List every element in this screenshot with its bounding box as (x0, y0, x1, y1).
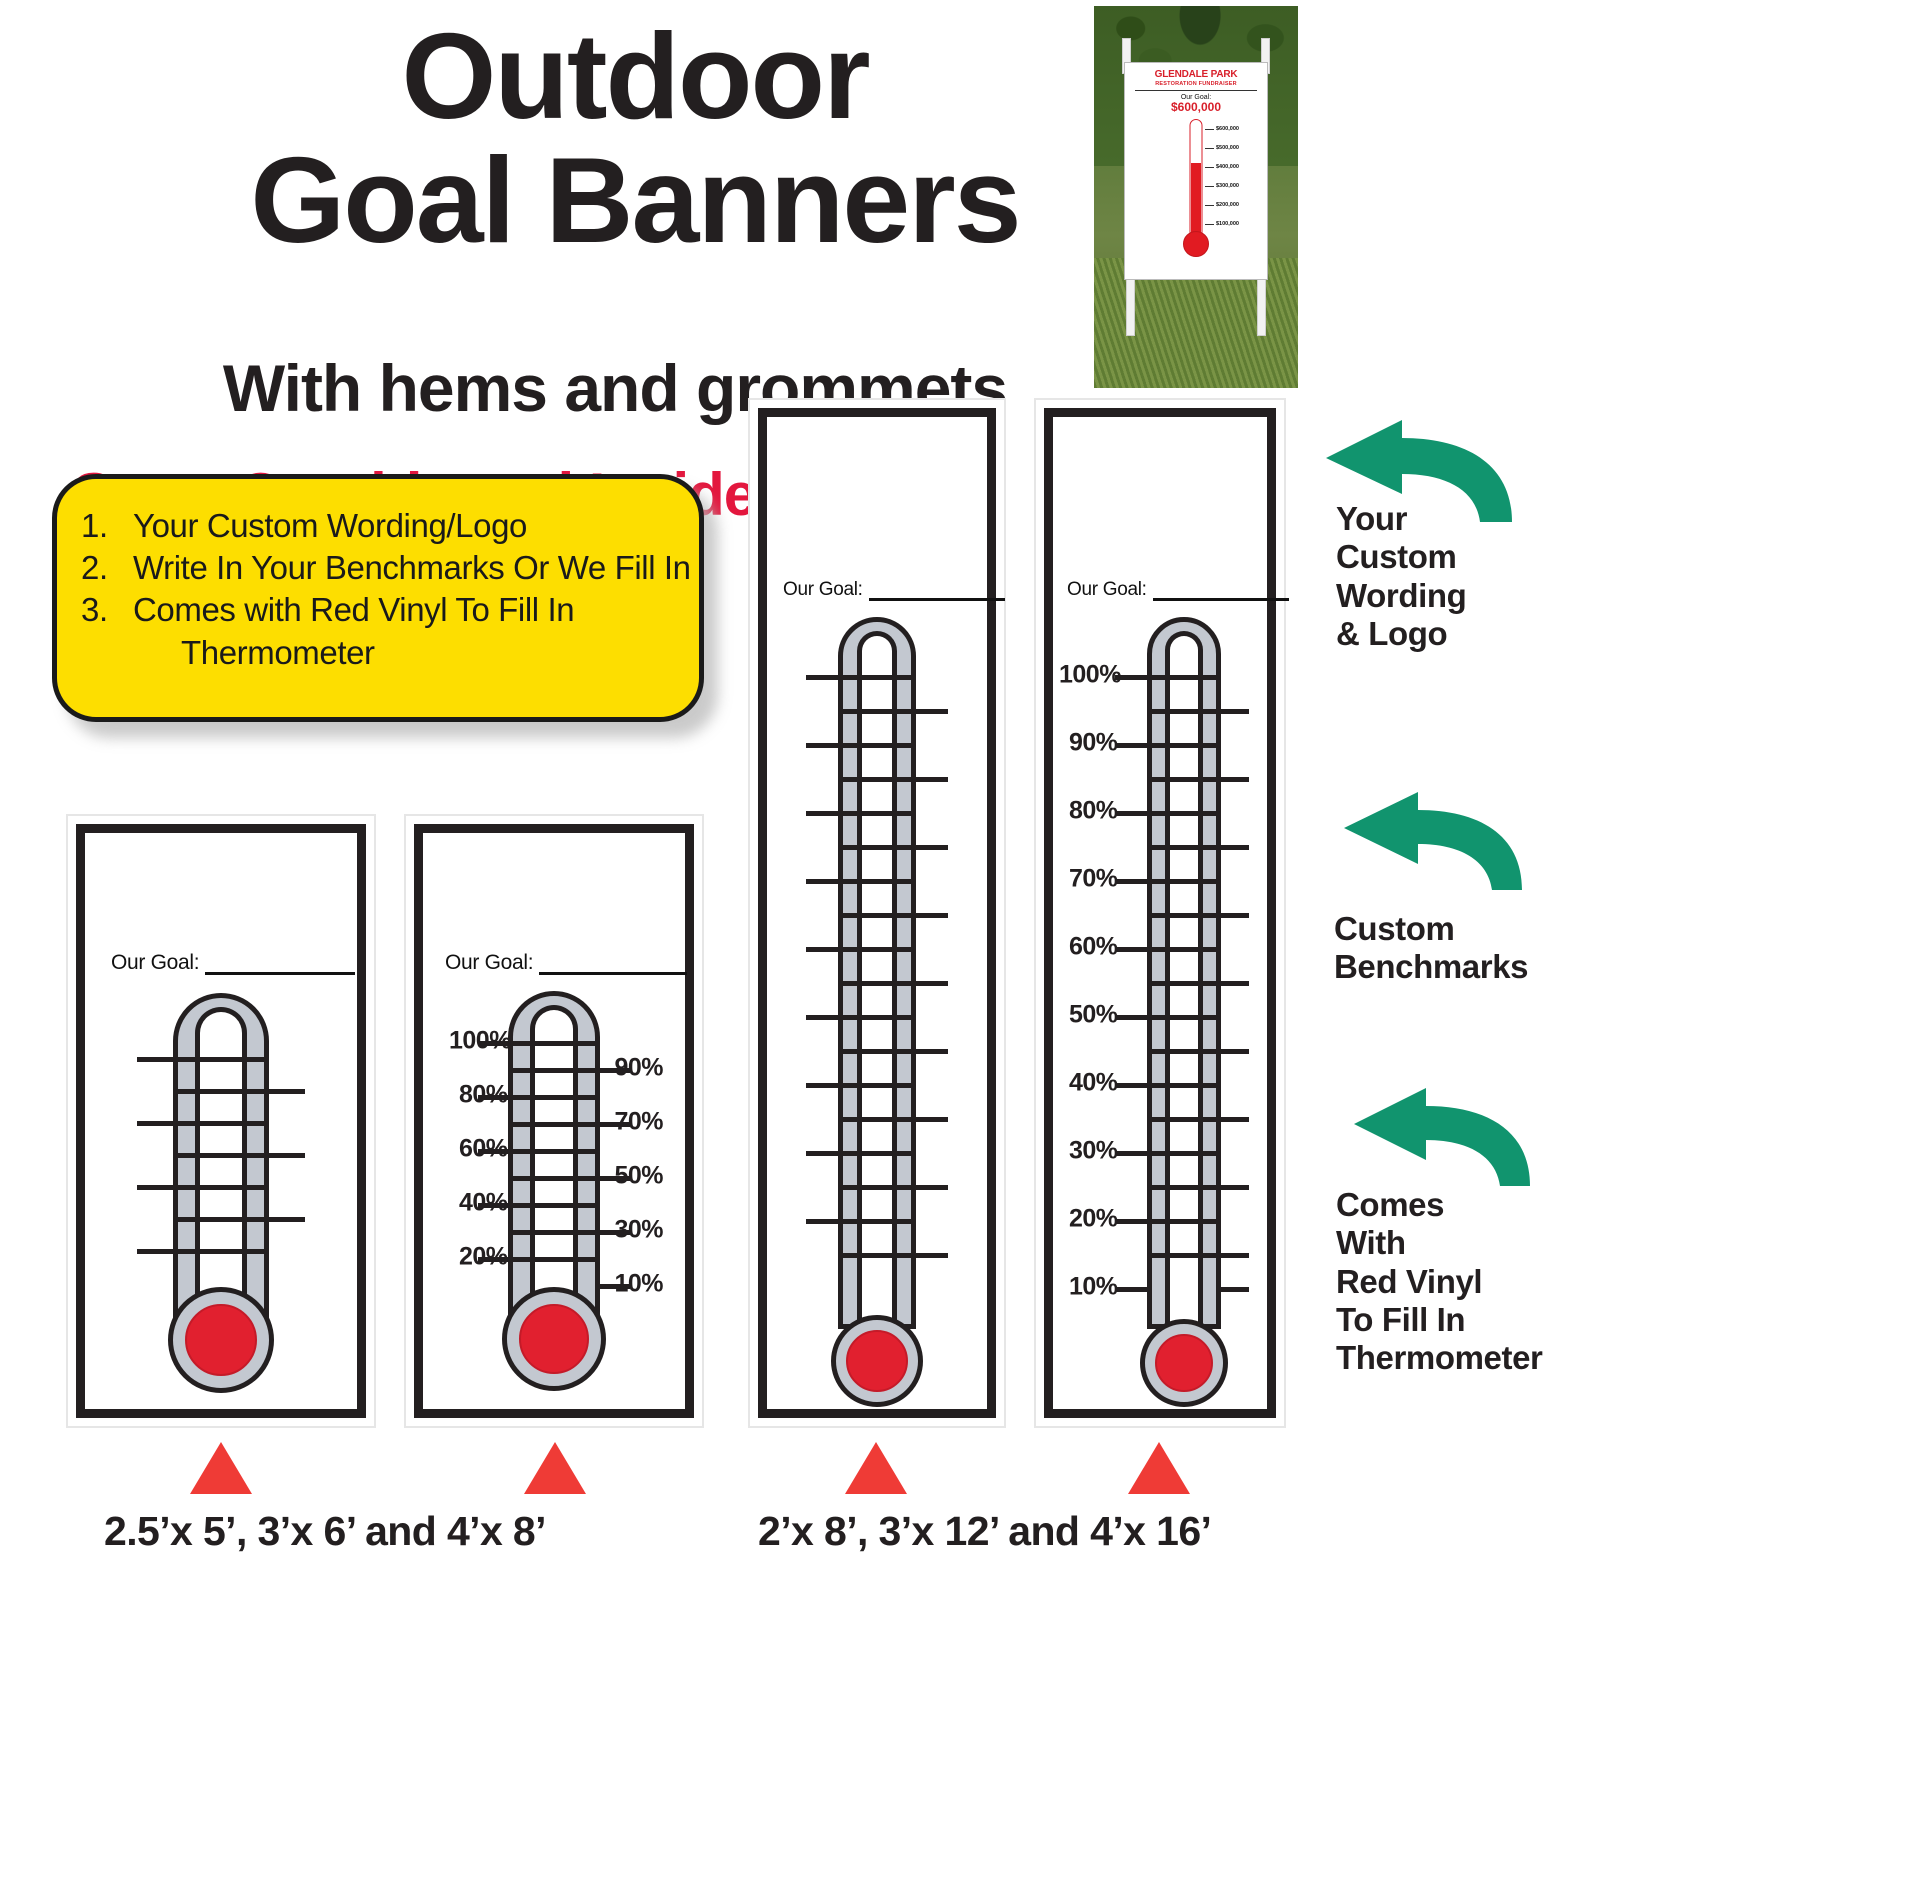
thermometer-tick-left (1115, 1151, 1147, 1156)
goal-label: Our Goal: (1067, 579, 1147, 601)
thermometer-segment (173, 1217, 269, 1222)
goal-write-in-line[interactable] (539, 957, 687, 975)
thermometer-segment (838, 1185, 916, 1190)
thermometer-tick-left (806, 1219, 838, 1224)
yard-sign-photo: GLENDALE PARK RESTORATION FUNDRAISER Our… (1094, 6, 1298, 388)
thermometer-segment (838, 879, 916, 884)
thermometer-segment (1147, 1049, 1221, 1054)
banner-panel-tall-blank[interactable]: Our Goal: (748, 398, 1006, 1428)
scale-label-left: 20% (1069, 1205, 1118, 1234)
thermometer-segment (508, 1122, 600, 1127)
mini-tick (1205, 224, 1214, 225)
thermometer-segment (1147, 743, 1221, 748)
thermometer-segment (508, 1041, 600, 1046)
thermometer-tick-left (806, 675, 838, 680)
scale-label-right: 30% (614, 1216, 663, 1245)
photo-sign-frame: GLENDALE PARK RESTORATION FUNDRAISER Our… (1110, 38, 1282, 336)
thermometer-tick-right (916, 981, 948, 986)
thermometer-segment (508, 1203, 600, 1208)
scale-label-left: 60% (1069, 933, 1118, 962)
scale-label-left: 30% (1069, 1137, 1118, 1166)
thermometer-segment (1147, 709, 1221, 714)
goal-row: Our Goal: (111, 951, 355, 975)
thermometer-tick-right (1221, 845, 1249, 850)
thermometer-segment (838, 777, 916, 782)
thermometer-segment (1147, 777, 1221, 782)
features-callout: 1. Your Custom Wording/Logo 2. Write In … (52, 474, 704, 722)
thermometer-segment (1147, 1117, 1221, 1122)
scale-label-left: 100% (449, 1027, 511, 1056)
thermometer-segment (838, 811, 916, 816)
list-item-label: Comes with Red Vinyl To Fill In (133, 589, 574, 631)
banner-panel-tall-labeled[interactable]: Our Goal: (1034, 398, 1286, 1428)
thermometer-segment (173, 1121, 269, 1126)
list-item: 3. Comes with Red Vinyl To Fill In (57, 589, 699, 631)
thermometer-segment (173, 1089, 269, 1094)
poster-root: Outdoor Goal Banners With hems and gromm… (0, 0, 1920, 1878)
mini-thermometer-fill (1191, 163, 1201, 237)
thermometer-segment (173, 1153, 269, 1158)
goal-write-in-line[interactable] (205, 957, 355, 975)
thermometer-tick-left (137, 1249, 177, 1254)
thermometer-tick-left (806, 743, 838, 748)
banner-inner-border: Our Goal: (1044, 408, 1276, 1418)
headline-line-1: Outdoor (0, 14, 1270, 138)
thermometer-tick-right (916, 1185, 948, 1190)
thermometer-tick-right (1221, 1287, 1249, 1292)
scale-label-left: 10% (1069, 1273, 1118, 1302)
thermometer-tick-right (1221, 913, 1249, 918)
thermometer-tick-left (806, 879, 838, 884)
thermometer-segment (838, 947, 916, 952)
scale-label-right: 90% (614, 1054, 663, 1083)
thermometer-segment (838, 1219, 916, 1224)
thermometer-tick-left (1115, 947, 1147, 952)
thermometer-segment (838, 743, 916, 748)
thermometer-tick-left (1115, 1219, 1147, 1224)
thermometer-graphic (767, 617, 987, 1407)
mini-thermometer-bulb (1183, 231, 1209, 257)
mini-scale-label: $200,000 (1216, 202, 1239, 208)
list-item-label: Your Custom Wording/Logo (133, 505, 527, 547)
thermometer-tick-right (916, 709, 948, 714)
thermometer-graphic: 100% 90% 80% 70% 60% 50% 40% 30% 20% 10% (1053, 617, 1267, 1407)
thermometer-segment (173, 1185, 269, 1190)
caption-sizes-small: 2.5’x 5’, 3’x 6’ and 4’x 8’ (104, 1508, 546, 1555)
mini-tick (1205, 205, 1214, 206)
pointer-triangle (190, 1442, 252, 1494)
list-item-number: 1. (81, 505, 133, 547)
thermometer-tick-left (806, 1151, 838, 1156)
thermometer-segment (508, 1176, 600, 1181)
banner-inner-border: Our Goal: 100% 80% (414, 824, 694, 1418)
thermometer-tick-right (1221, 709, 1249, 714)
scale-label-left: 80% (1069, 797, 1118, 826)
thermometer-segment (838, 913, 916, 918)
thermometer-segment (508, 1257, 600, 1262)
list-item: 2. Write In Your Benchmarks Or We Fill I… (57, 547, 699, 589)
thermometer-segment (838, 1049, 916, 1054)
caption-line: Thermometer (1336, 1339, 1543, 1377)
thermometer-tick-right (265, 1217, 305, 1222)
caption-line: Custom (1334, 910, 1528, 948)
thermometer-bulb-fill (1155, 1334, 1213, 1392)
goal-row: Our Goal: (1067, 579, 1289, 601)
scale-label-right: 50% (614, 1162, 663, 1191)
mini-scale-label: $300,000 (1216, 183, 1239, 189)
headline-line-2: Goal Banners (0, 138, 1270, 262)
banner-inner-border: Our Goal: (758, 408, 996, 1418)
goal-label: Our Goal: (445, 951, 533, 975)
thermometer-tick-left (806, 947, 838, 952)
scale-label-left: 50% (1069, 1001, 1118, 1030)
thermometer-segment (173, 1057, 269, 1062)
sign-thermometer-icon: $600,000 $500,000 $400,000 $300,000 $200… (1129, 117, 1263, 259)
list-item-continuation: Thermometer (57, 632, 699, 674)
caption-custom-benchmarks: Custom Benchmarks (1334, 910, 1528, 987)
caption-line: To Fill In (1336, 1301, 1543, 1339)
thermometer-segment (1147, 675, 1221, 680)
thermometer-graphic: 100% 80% 60% 40% 20% 90% 70% 50% 30% 10% (423, 991, 685, 1391)
mini-scale-label: $500,000 (1216, 145, 1239, 151)
goal-label: Our Goal: (783, 579, 863, 601)
mini-tick (1205, 129, 1214, 130)
thermometer-tick-right (916, 777, 948, 782)
thermometer-segment (1147, 1015, 1221, 1020)
thermometer-tick-left (1115, 1083, 1147, 1088)
thermometer-tick-right (1221, 1117, 1249, 1122)
thermometer-tick-left (806, 1015, 838, 1020)
list-item-number: 2. (81, 547, 133, 589)
thermometer-tick-right (916, 1117, 948, 1122)
goal-row: Our Goal: (783, 579, 1005, 601)
goal-write-in-line[interactable] (1153, 583, 1289, 601)
thermometer-tick-left (1115, 1015, 1147, 1020)
scale-label-left: 70% (1069, 865, 1118, 894)
thermometer-tick-right (916, 913, 948, 918)
list-item-label: Write In Your Benchmarks Or We Fill In (133, 547, 691, 589)
thermometer-tick-right (916, 1049, 948, 1054)
thermometer-segment (838, 709, 916, 714)
mini-tick (1205, 148, 1214, 149)
thermometer-tick-right (1221, 1049, 1249, 1054)
thermometer-segment (838, 675, 916, 680)
thermometer-segment (1147, 1185, 1221, 1190)
mini-scale-label: $400,000 (1216, 164, 1239, 170)
scale-label-right: 70% (614, 1108, 663, 1137)
caption-line: Custom (1336, 538, 1466, 576)
thermometer-tick-right (265, 1089, 305, 1094)
caption-custom-wording: Your Custom Wording & Logo (1336, 500, 1466, 653)
scale-label-left: 90% (1069, 729, 1118, 758)
thermometer-segment (1147, 913, 1221, 918)
pointer-triangle (845, 1442, 907, 1494)
sign-goal-amount: $600,000 (1129, 101, 1263, 114)
thermometer-tick-left (806, 1083, 838, 1088)
scale-label-right: 10% (614, 1270, 663, 1299)
thermometer-tick-left (137, 1185, 177, 1190)
thermometer-tick-right (916, 845, 948, 850)
thermometer-segment (838, 1151, 916, 1156)
thermometer-segment (508, 1095, 600, 1100)
list-item-number: 3. (81, 589, 133, 631)
caption-sizes-tall: 2’x 8’, 3’x 12’ and 4’x 16’ (758, 1508, 1211, 1555)
thermometer-tick-left (806, 811, 838, 816)
thermometer-tick-left (137, 1057, 177, 1062)
mini-tick (1205, 167, 1214, 168)
thermometer-tick-left (137, 1121, 177, 1126)
thermometer-segment (1147, 1219, 1221, 1224)
pointer-triangle (524, 1442, 586, 1494)
scale-label-left: 20% (459, 1243, 508, 1272)
banner-inner-border: Our Goal: (76, 824, 366, 1418)
caption-line: & Logo (1336, 615, 1466, 653)
thermometer-segment (508, 1068, 600, 1073)
thermometer-segment (838, 1117, 916, 1122)
goal-label: Our Goal: (111, 951, 199, 975)
thermometer-segment (1147, 879, 1221, 884)
sign-divider (1135, 90, 1257, 91)
list-item: 1. Your Custom Wording/Logo (57, 505, 699, 547)
thermometer-segment (1147, 811, 1221, 816)
thermometer-segment (838, 845, 916, 850)
thermometer-segment (1147, 1151, 1221, 1156)
goal-row: Our Goal: (445, 951, 687, 975)
thermometer-segment (1147, 1083, 1221, 1088)
curved-arrow-icon (1336, 790, 1536, 896)
thermometer-segment (838, 981, 916, 986)
thermometer-segment (838, 1253, 916, 1258)
scale-label-left: 80% (459, 1081, 508, 1110)
page-title: Outdoor Goal Banners (0, 14, 1270, 263)
goal-write-in-line[interactable] (869, 583, 1005, 601)
caption-line: Wording (1336, 577, 1466, 615)
thermometer-tick-left (1115, 879, 1147, 884)
banner-panel-small-labeled[interactable]: Our Goal: 100% 80% (404, 814, 704, 1428)
thermometer-shaft-hole (195, 1007, 247, 1327)
caption-red-vinyl: Comes With Red Vinyl To Fill In Thermome… (1336, 1186, 1543, 1377)
thermometer-bulb-fill (846, 1330, 908, 1392)
thermometer-tick-right (1221, 1253, 1249, 1258)
thermometer-tick-right (1221, 1185, 1249, 1190)
pointer-triangle (1128, 1442, 1190, 1494)
mini-scale-label: $600,000 (1216, 126, 1239, 132)
features-list: 1. Your Custom Wording/Logo 2. Write In … (57, 505, 699, 632)
thermometer-tick-right (916, 1253, 948, 1258)
thermometer-segment (1147, 947, 1221, 952)
thermometer-tick-right (1221, 981, 1249, 986)
thermometer-tick-left (1115, 743, 1147, 748)
scale-label-left: 40% (1069, 1069, 1118, 1098)
thermometer-graphic (85, 993, 357, 1393)
thermometer-segment (1147, 981, 1221, 986)
sign-subtitle: RESTORATION FUNDRAISER (1129, 81, 1263, 87)
mini-scale-label: $100,000 (1216, 221, 1239, 227)
caption-line: Benchmarks (1334, 948, 1528, 986)
thermometer-tick-right (1221, 777, 1249, 782)
caption-line: With (1336, 1224, 1543, 1262)
thermometer-segment (838, 1083, 916, 1088)
scale-label-left: 40% (459, 1189, 508, 1218)
thermometer-segment (508, 1230, 600, 1235)
thermometer-tick-left (1115, 1287, 1147, 1292)
scale-label-left: 100% (1059, 661, 1121, 690)
caption-line: Red Vinyl (1336, 1263, 1543, 1301)
thermometer-tick-left (1115, 811, 1147, 816)
caption-line: Comes (1336, 1186, 1543, 1224)
thermometer-shaft-hole (530, 1005, 578, 1325)
banner-panel-small-blank[interactable]: Our Goal: (66, 814, 376, 1428)
thermometer-segment (1147, 845, 1221, 850)
thermometer-segment (173, 1249, 269, 1254)
thermometer-segment (838, 1015, 916, 1020)
sign-title: GLENDALE PARK (1129, 69, 1263, 80)
thermometer-segment (508, 1149, 600, 1154)
curved-arrow-icon (1346, 1086, 1544, 1192)
scale-label-left: 60% (459, 1135, 508, 1164)
thermometer-tick-right (265, 1153, 305, 1158)
sign-card: GLENDALE PARK RESTORATION FUNDRAISER Our… (1124, 62, 1268, 280)
thermometer-segment (1147, 1253, 1221, 1258)
thermometer-bulb-fill (519, 1304, 589, 1374)
mini-tick (1205, 186, 1214, 187)
thermometer-bulb-fill (185, 1304, 257, 1376)
caption-line: Your (1336, 500, 1466, 538)
